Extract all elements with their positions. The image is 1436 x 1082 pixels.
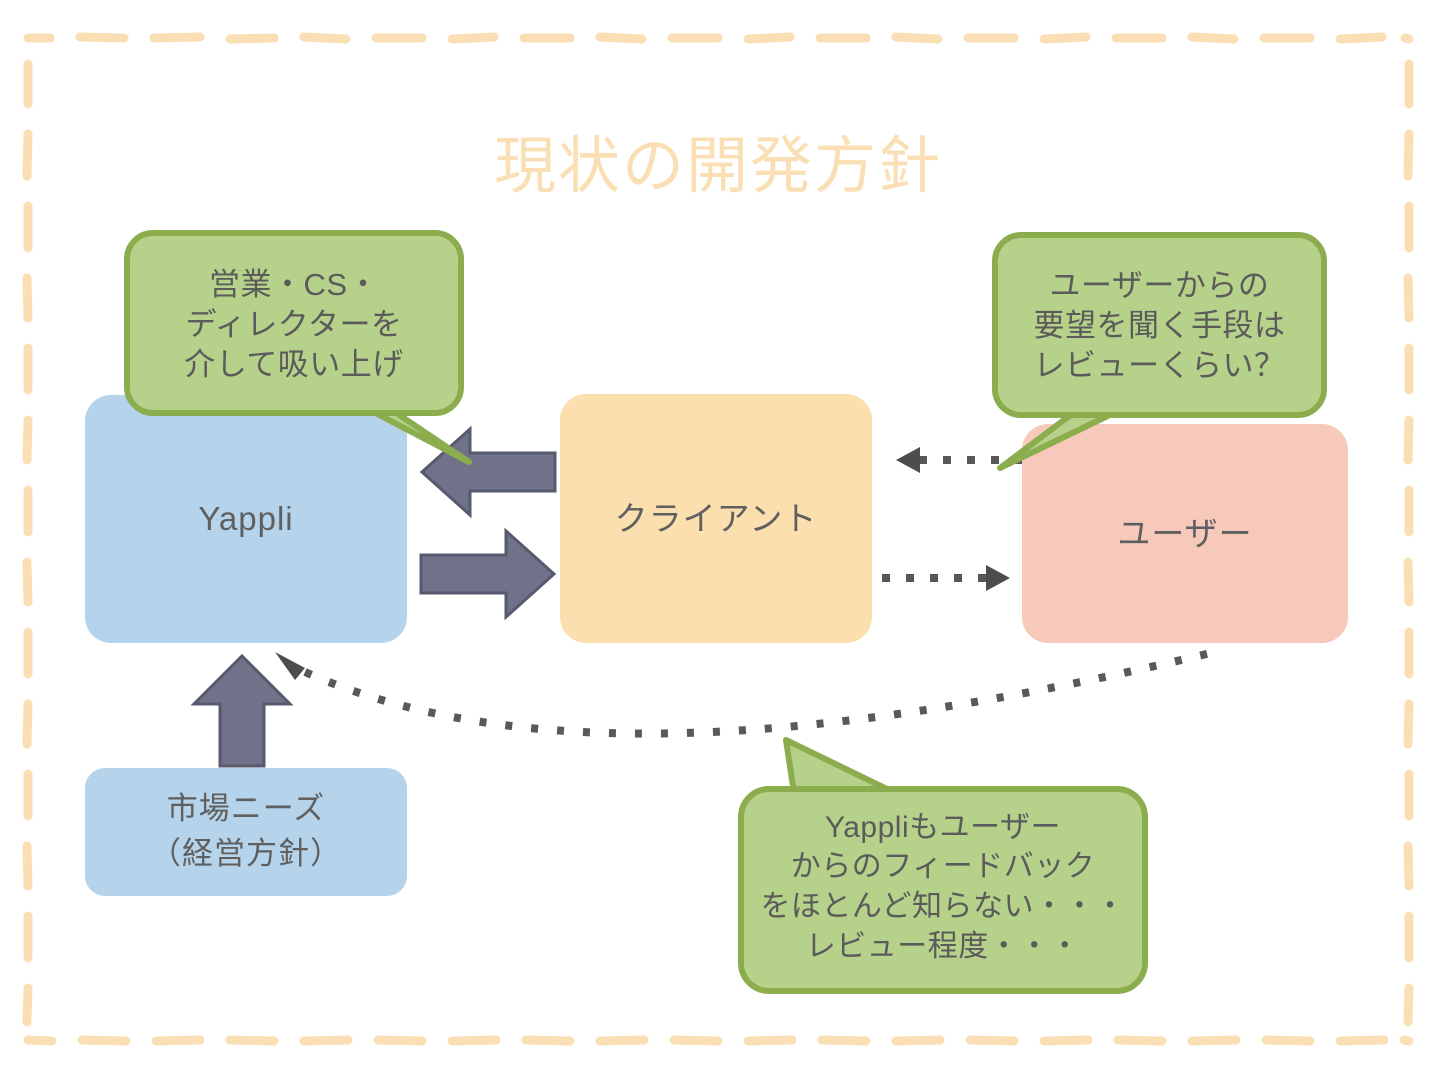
node-market-needs-line1: 市場ニーズ	[167, 791, 325, 826]
callout-yappli-feedback[interactable]: Yappliもユーザー からのフィードバック をほとんど知らない・・・ レビュー…	[738, 762, 1148, 990]
callout-feedback-line-4: レビュー程度・・・	[806, 927, 1081, 967]
callout-review-line-1: ユーザーからの	[1050, 266, 1270, 306]
connector-yappli-to-client-arrow	[418, 527, 558, 622]
connector-client-to-user-dotted-arrow	[880, 558, 1025, 598]
callout-user-request-review[interactable]: ユーザーからの 要望を聞く手段は レビューくらい？	[992, 232, 1327, 420]
slide-canvas: 現状の開発方針 Yappli クライアント ユーザー 市場ニーズ	[0, 0, 1436, 1082]
callout-sales-line-3: 介して吸い上げ	[184, 345, 404, 385]
callout-feedback-line-1: Yappliもユーザー	[825, 808, 1061, 848]
callout-sales-cs-director[interactable]: 営業・CS・ ディレクターを 介して吸い上げ	[124, 230, 464, 420]
node-market-needs-line2: （経営方針）	[150, 836, 342, 871]
node-client[interactable]: クライアント	[560, 394, 872, 643]
callout-sales-cs-director-text: 営業・CS・ ディレクターを 介して吸い上げ	[124, 230, 464, 420]
connector-user-to-yappli-curve-dotted-arrow	[255, 630, 1235, 760]
node-market-needs[interactable]: 市場ニーズ （経営方針）	[85, 768, 407, 896]
node-client-label: クライアント	[615, 496, 818, 542]
callout-review-line-3: レビューくらい？	[1034, 346, 1286, 386]
callout-sales-line-2: ディレクターを	[185, 305, 402, 345]
callout-feedback-line-3: をほとんど知らない・・・	[760, 887, 1125, 927]
callout-yappli-feedback-text: Yappliもユーザー からのフィードバック をほとんど知らない・・・ レビュー…	[738, 762, 1148, 990]
callout-user-request-review-text: ユーザーからの 要望を聞く手段は レビューくらい？	[992, 232, 1327, 420]
page-title: 現状の開発方針	[0, 133, 1436, 201]
callout-feedback-line-2: からのフィードバック	[791, 847, 1095, 887]
callout-review-line-2: 要望を聞く手段は	[1034, 306, 1286, 346]
node-user-label: ユーザー	[1117, 511, 1252, 557]
callout-sales-line-1: 営業・CS・	[209, 265, 379, 305]
node-yappli-label: Yappli	[198, 496, 293, 542]
node-market-needs-label: 市場ニーズ （経営方針）	[150, 787, 342, 877]
